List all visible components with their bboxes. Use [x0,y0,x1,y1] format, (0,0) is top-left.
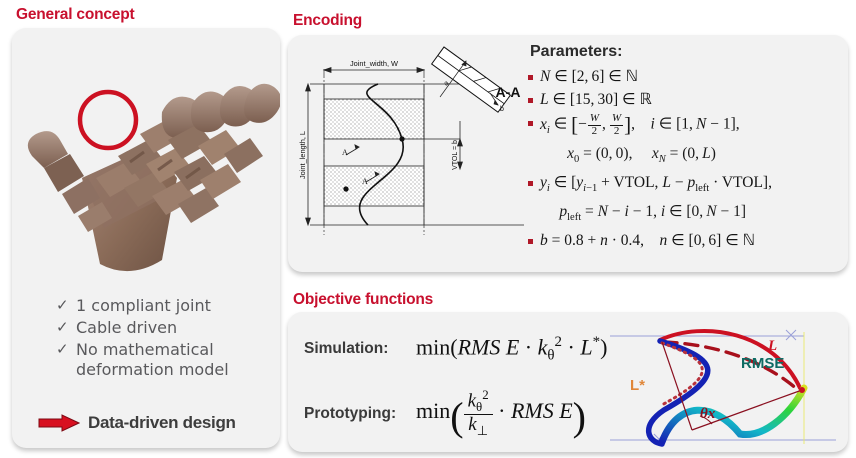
curves-svg: L RMSE L* θx [604,314,842,450]
parameter-equation: L ∈ [15, 30] ∈ ℝ [540,90,652,109]
dim-joint-length-label: Joint_length, L [298,131,307,179]
list-item: ✓ No mathematical deformation model [56,340,276,380]
diagram-label-rmse: RMSE [741,355,784,372]
diagram-label-l: L [767,338,777,354]
general-concept-title: General concept [16,6,134,24]
parameter-item-xi: xi ∈ [−W2, W2], i ∈ [1, N − 1], [528,113,846,140]
parameter-equation: yi ∈ [yi−1 + VTOL, L − pleft · VTOL], [540,173,772,198]
parameter-continuation-pleft: pleft = N − i − 1, i ∈ [0, N − 1] [540,202,846,227]
objective-label: Simulation: [304,340,416,358]
objective-row-simulation: Simulation: min(RMS E · kθ2 · L*) [304,334,607,365]
dim-joint-width-label: Joint_width, W [350,59,398,68]
encoding-title: Encoding [293,12,362,30]
parameter-item-n: N ∈ [2, 6] ∈ ℕ [528,67,846,86]
diagram-label-theta-x: θx [700,406,716,422]
bullet-square-icon [528,121,533,126]
check-label: Cable driven [76,318,177,338]
bullet-square-icon [528,75,533,80]
curve-blue [649,341,708,444]
bullet-square-icon [528,239,533,244]
section-view-label: A-A [496,84,521,100]
general-concept-card: ✓ 1 compliant joint ✓ Cable driven ✓ No … [12,28,280,448]
objective-functions-card: Simulation: min(RMS E · kθ2 · L*) Protot… [288,312,848,452]
diagram-label-lstar: L* [630,377,645,394]
deformation-curves-diagram: L RMSE L* θx [604,314,842,450]
section-mark-a1: A [342,148,348,157]
parameter-equation: N ∈ [2, 6] ∈ ℕ [540,67,638,86]
red-circle-highlight [80,92,136,148]
bullet-square-icon [528,181,533,186]
robotic-hand-render [12,28,280,290]
conclusion-row: Data-driven design [38,413,236,433]
robotic-hand-image [12,28,280,290]
parameter-equation: xi ∈ [−W2, W2], i ∈ [1, N − 1], [540,113,740,140]
parameter-item-b: b = 0.8 + n · 0.4, n ∈ [0, 6] ∈ ℕ [528,231,846,250]
parameter-item-l: L ∈ [15, 30] ∈ ℝ [528,90,846,109]
joint-technical-drawing: Joint_width, W Joint_length, L VTOL = b [294,39,544,267]
objective-formula-simulation: min(RMS E · kθ2 · L*) [416,334,607,365]
red-right-arrow-icon [38,414,80,432]
bullet-square-icon [528,98,533,103]
joint-drawing-svg: Joint_width, W Joint_length, L VTOL = b [294,39,544,267]
conclusion-label: Data-driven design [88,413,236,433]
dim-thickness-label: b [500,106,504,113]
feature-check-list: ✓ 1 compliant joint ✓ Cable driven ✓ No … [56,296,276,382]
list-item: ✓ Cable driven [56,318,276,338]
parameters-heading: Parameters: [530,43,846,61]
check-label: 1 compliant joint [76,296,211,316]
objective-row-prototyping: Prototyping: min(kθ2k⊥ · RMS E) [304,388,586,440]
objective-formula-prototyping: min(kθ2k⊥ · RMS E) [416,388,586,440]
parameter-item-yi: yi ∈ [yi−1 + VTOL, L − pleft · VTOL], [528,173,846,198]
parameter-continuation-x0: x0 = (0, 0), xN = (0, L) [540,144,846,169]
clipped-corner-artifact [834,0,856,34]
encoding-card: Joint_width, W Joint_length, L VTOL = b [288,35,848,272]
parameter-equation: b = 0.8 + n · 0.4, n ∈ [0, 6] ∈ ℕ [540,231,755,250]
check-icon: ✓ [56,318,76,338]
objective-functions-title: Objective functions [293,291,433,309]
check-label: No mathematical deformation model [76,340,229,380]
check-icon: ✓ [56,340,76,360]
section-mark-a2: A [362,177,368,186]
dim-vtol-label: VTOL = b [452,140,459,170]
parameters-block: Parameters: N ∈ [2, 6] ∈ ℕ L ∈ [15, 30] … [528,43,846,254]
list-item: ✓ 1 compliant joint [56,296,276,316]
check-icon: ✓ [56,296,76,316]
objective-label: Prototyping: [304,405,416,423]
